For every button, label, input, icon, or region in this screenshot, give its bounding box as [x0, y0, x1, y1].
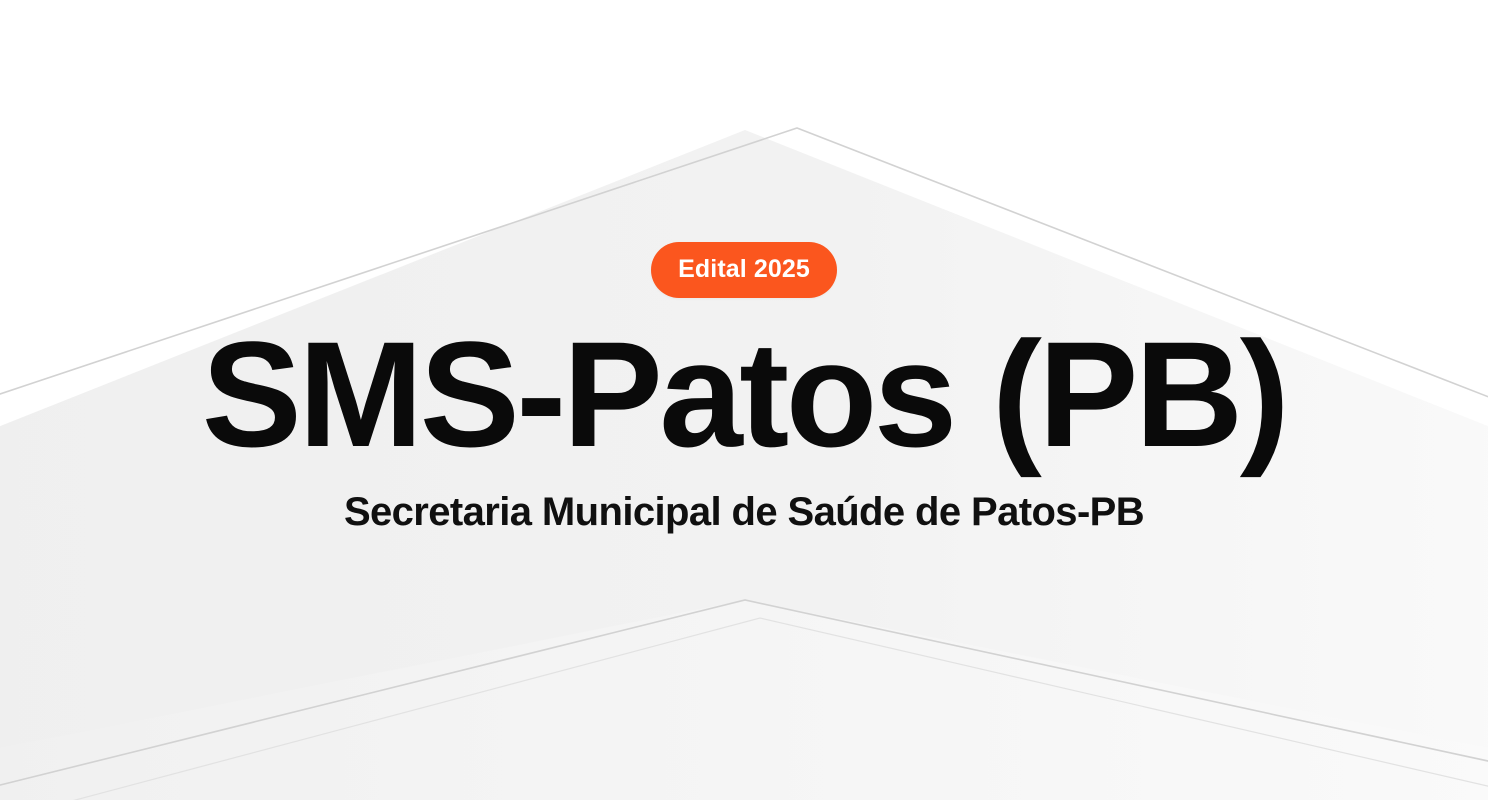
page-subtitle: Secretaria Municipal de Saúde de Patos-P…	[344, 490, 1144, 534]
page-title: SMS-Patos (PB)	[202, 316, 1286, 474]
banner-content: Edital 2025 SMS-Patos (PB) Secretaria Mu…	[0, 0, 1488, 800]
edital-badge: Edital 2025	[651, 242, 837, 298]
hero-banner: Edital 2025 SMS-Patos (PB) Secretaria Mu…	[0, 0, 1488, 800]
